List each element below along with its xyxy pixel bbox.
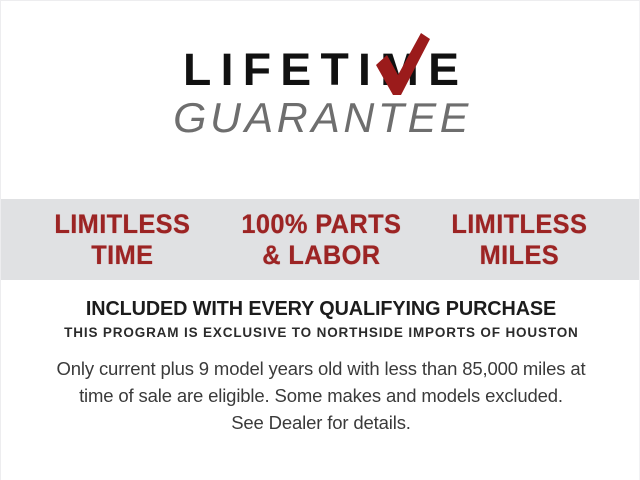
feature-line-2: & LABOR [228, 240, 415, 271]
feature-line-1: LIMITLESS [29, 209, 216, 240]
feature-column-parts-labor: 100% PARTS & LABOR [228, 209, 415, 271]
feature-column-limitless-miles: LIMITLESS MILES [426, 209, 613, 271]
subheadline: THIS PROGRAM IS EXCLUSIVE TO NORTHSIDE I… [1, 324, 640, 341]
logo-primary-text: LIFETIME [174, 47, 469, 93]
disclaimer-line: time of sale are eligible. Some makes an… [1, 382, 640, 409]
feature-band: LIMITLESS TIME 100% PARTS & LABOR LIMITL… [1, 199, 640, 280]
feature-line-1: LIMITLESS [426, 209, 613, 240]
logo-block: LIFETIME GUARANTEE [1, 47, 640, 140]
lower-text-block: INCLUDED WITH EVERY QUALIFYING PURCHASE … [1, 297, 640, 436]
disclaimer-line: Only current plus 9 model years old with… [1, 355, 640, 382]
headline: INCLUDED WITH EVERY QUALIFYING PURCHASE [4, 297, 638, 321]
feature-column-limitless-time: LIMITLESS TIME [29, 209, 216, 271]
feature-line-2: MILES [426, 240, 613, 271]
lifetime-guarantee-ad: LIFETIME GUARANTEE LIMITLESS TIME 100% P… [0, 0, 640, 480]
logo-lifetime-wrapper: LIFETIME [178, 47, 464, 93]
disclaimer-line: See Dealer for details. [1, 409, 640, 436]
disclaimer-text: Only current plus 9 model years old with… [1, 355, 640, 436]
logo-secondary-text: GUARANTEE [0, 96, 640, 140]
feature-line-2: TIME [29, 240, 216, 271]
feature-line-1: 100% PARTS [228, 209, 415, 240]
